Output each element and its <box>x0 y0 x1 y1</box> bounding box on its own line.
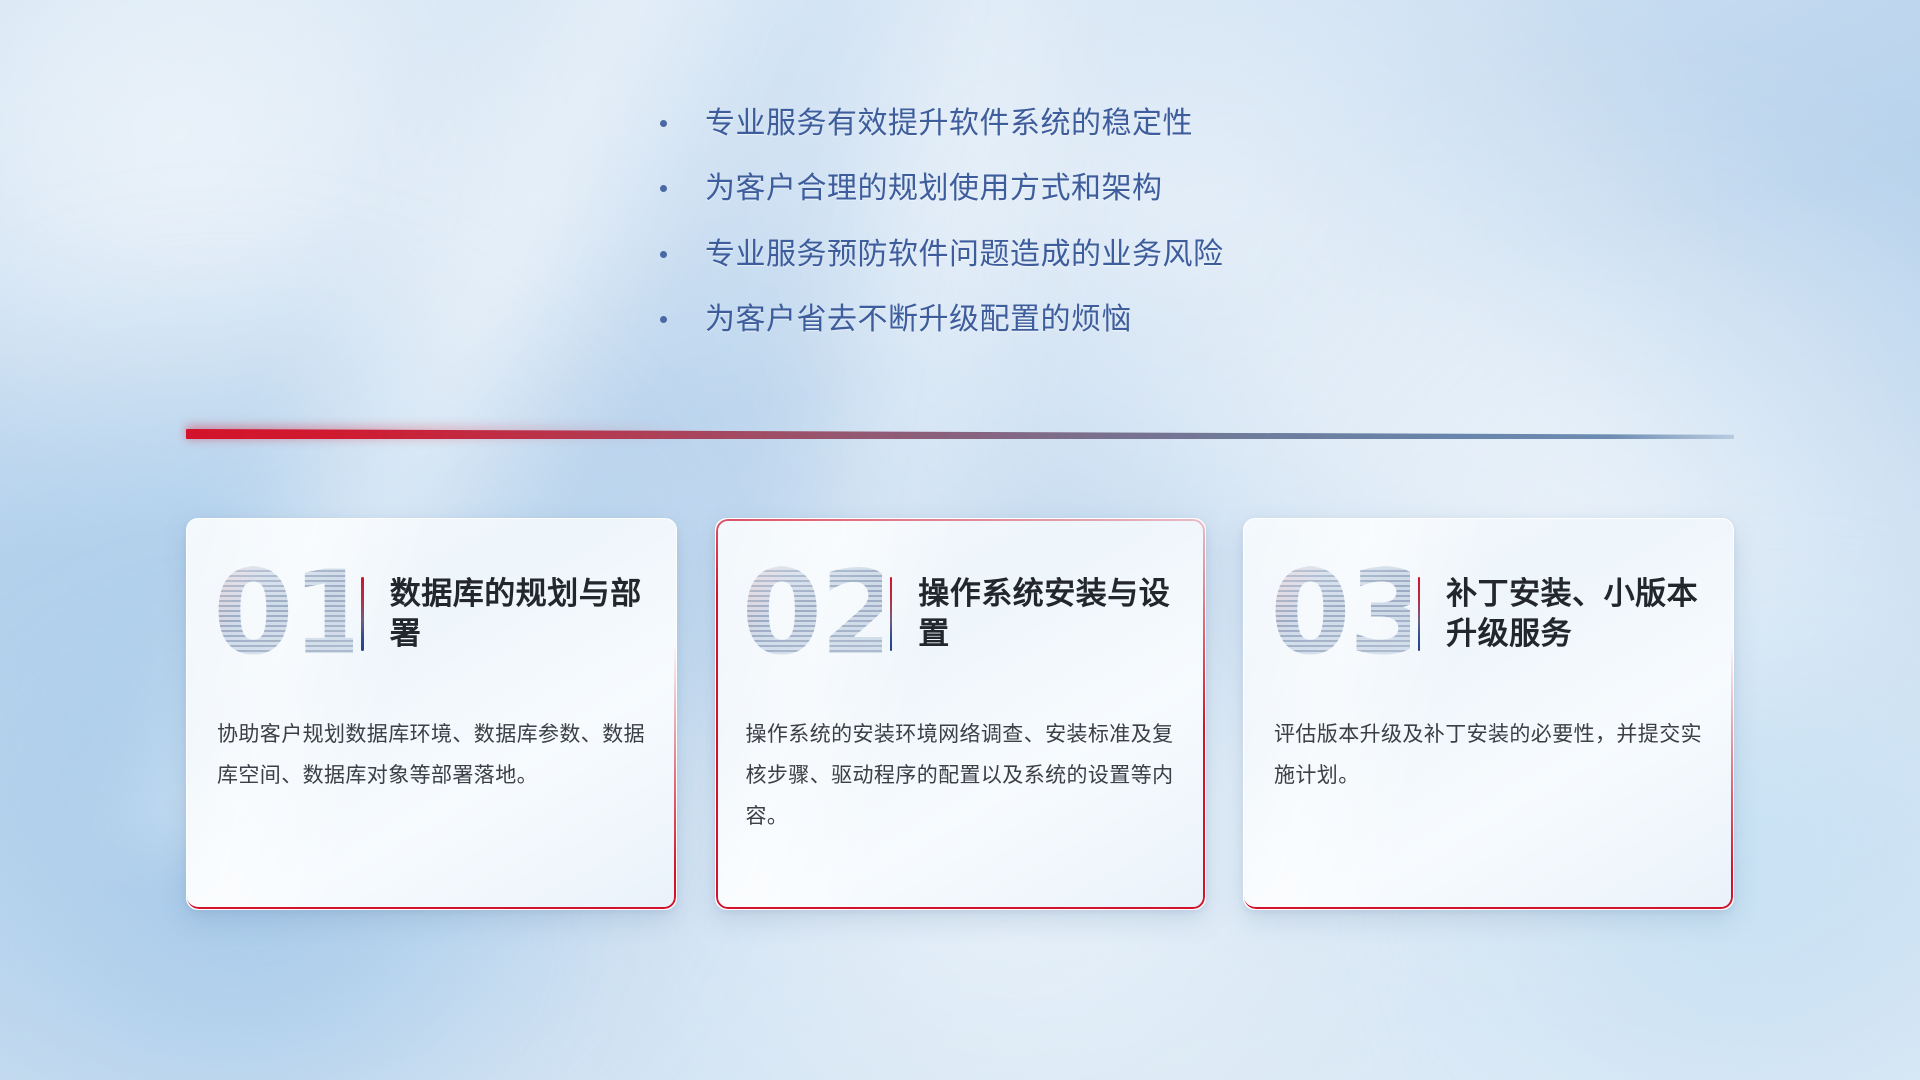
card-header: 02 操作系统安装与设置 <box>716 519 1205 709</box>
list-item: 专业服务有效提升软件系统的稳定性 <box>660 106 1420 141</box>
benefit-bullet-list: 专业服务有效提升软件系统的稳定性 为客户合理的规划使用方式和架构 专业服务预防软… <box>660 106 1420 368</box>
divider-bar <box>186 429 1734 439</box>
card-body-text: 协助客户规划数据库环境、数据库参数、数据库空间、数据库对象等部署落地。 <box>217 715 650 797</box>
card-number-ghost: 01 <box>213 555 353 673</box>
bullet-text: 为客户省去不断升级配置的烦恼 <box>705 302 1420 337</box>
section-divider <box>186 429 1734 439</box>
card-title: 操作系统安装与设置 <box>918 574 1204 655</box>
card-number-ghost: 03 <box>1270 555 1410 673</box>
card-header: 03 补丁安装、小版本升级服务 <box>1244 519 1733 709</box>
service-card-03[interactable]: 03 补丁安装、小版本升级服务 评估版本升级及补丁安装的必要性，并提交实施计划。 <box>1243 518 1734 910</box>
card-header: 01 数据库的规划与部署 <box>187 519 676 709</box>
card-body-text: 评估版本升级及补丁安装的必要性，并提交实施计划。 <box>1274 715 1707 797</box>
list-item: 专业服务预防软件问题造成的业务风险 <box>660 237 1420 272</box>
card-number-ghost: 02 <box>742 555 882 673</box>
service-card-02[interactable]: 02 操作系统安装与设置 操作系统的安装环境网络调查、安装标准及复核步骤、驱动程… <box>715 518 1206 910</box>
bullet-dot-icon <box>660 120 667 127</box>
card-body-text: 操作系统的安装环境网络调查、安装标准及复核步骤、驱动程序的配置以及系统的设置等内… <box>746 715 1179 838</box>
list-item: 为客户合理的规划使用方式和架构 <box>660 171 1420 206</box>
bullet-dot-icon <box>660 251 667 258</box>
service-card-row: 01 数据库的规划与部署 协助客户规划数据库环境、数据库参数、数据库空间、数据库… <box>186 518 1734 918</box>
card-title-divider <box>361 577 364 651</box>
bullet-dot-icon <box>660 316 667 323</box>
bullet-text: 为客户合理的规划使用方式和架构 <box>705 171 1420 206</box>
card-title: 补丁安装、小版本升级服务 <box>1446 574 1733 655</box>
card-title-divider <box>890 577 893 651</box>
bullet-text: 专业服务有效提升软件系统的稳定性 <box>705 106 1420 141</box>
card-title: 数据库的规划与部署 <box>390 574 676 655</box>
service-card-01[interactable]: 01 数据库的规划与部署 协助客户规划数据库环境、数据库参数、数据库空间、数据库… <box>186 518 677 910</box>
card-title-divider <box>1418 577 1420 651</box>
bullet-text: 专业服务预防软件问题造成的业务风险 <box>705 237 1420 272</box>
list-item: 为客户省去不断升级配置的烦恼 <box>660 302 1420 337</box>
bullet-dot-icon <box>660 185 667 192</box>
